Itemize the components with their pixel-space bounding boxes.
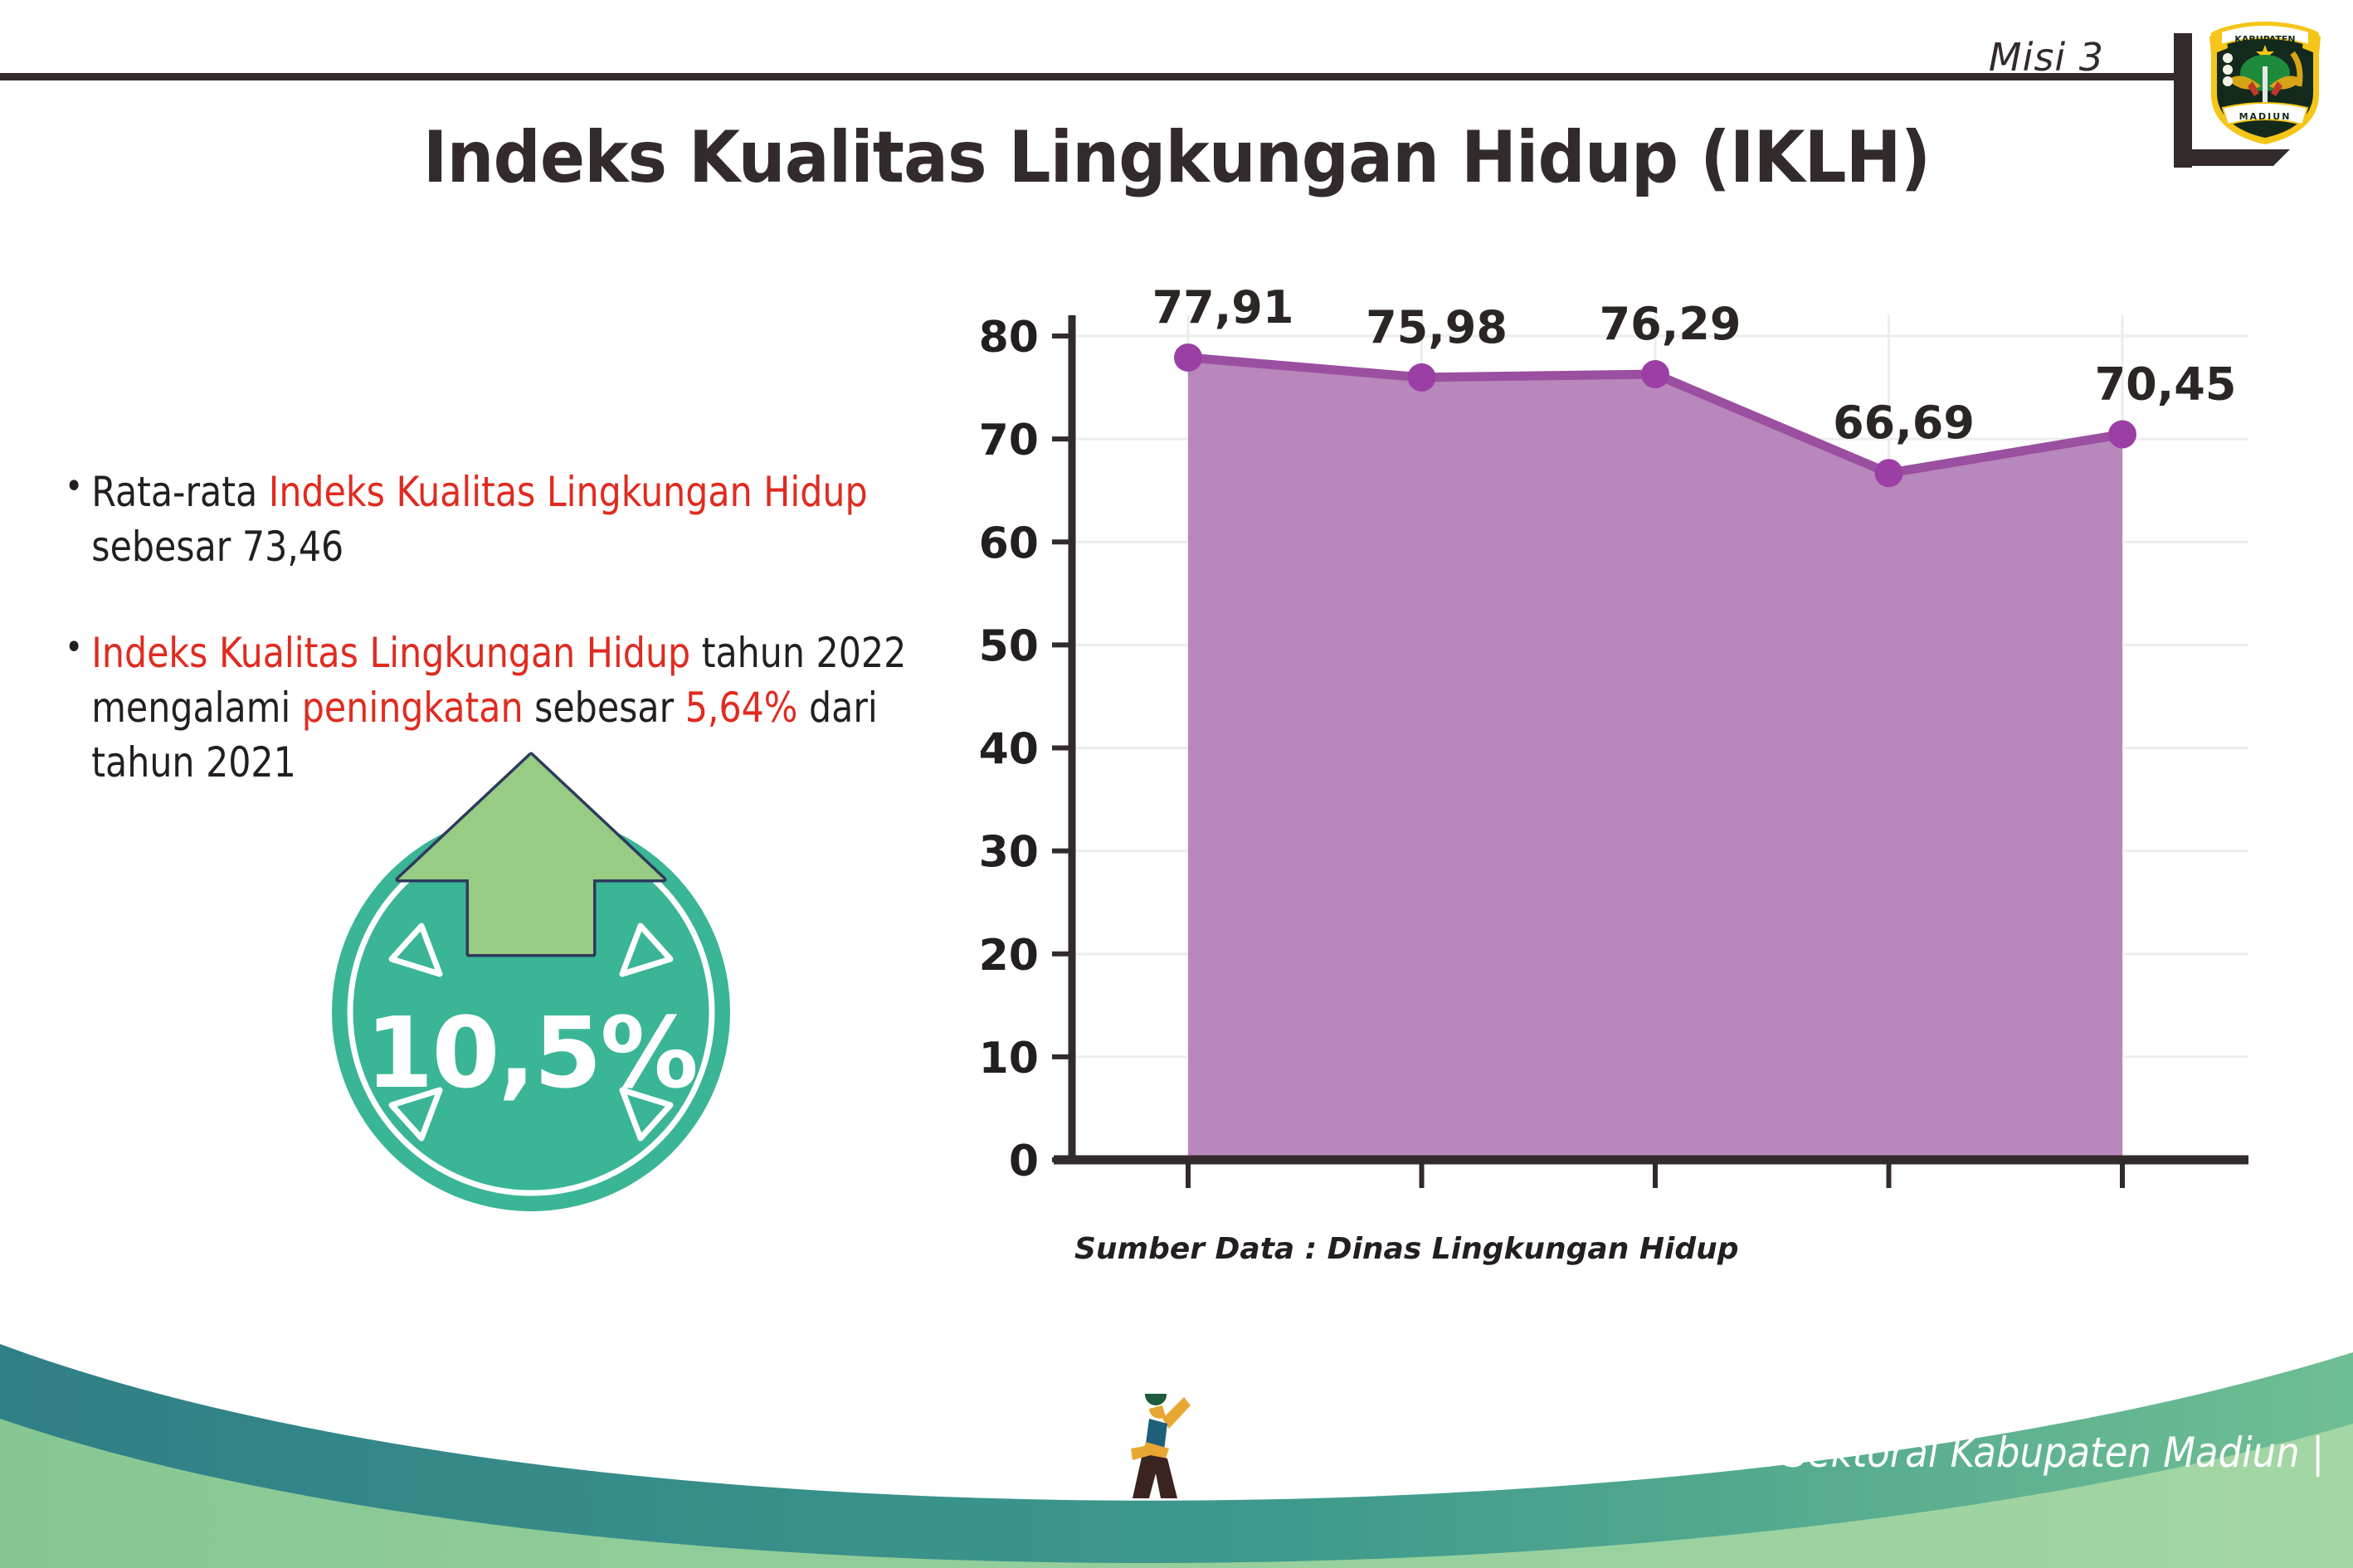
iklh-area-chart: 01020304050607080 20182019202020212022 7… xyxy=(954,282,2282,1211)
badge-graphic xyxy=(315,747,747,1211)
crest-top-text: KABUPATEN xyxy=(2234,34,2295,45)
x-tick-label: 2018 xyxy=(1119,1205,1258,1211)
y-tick-label: 50 xyxy=(979,621,1039,671)
y-tick-label: 10 xyxy=(979,1034,1039,1083)
bullet-seg-highlight: Indeks Kualitas Lingkungan Hidup xyxy=(269,468,868,516)
page-title: Indeks Kualitas Lingkungan Hidup (IKLH) xyxy=(82,116,2270,199)
chart-y-tick-labels: 01020304050607080 xyxy=(979,313,1039,1186)
data-point-marker xyxy=(1875,459,1903,487)
x-tick-label: 2020 xyxy=(1586,1205,1725,1211)
x-tick-label: 2022 xyxy=(2053,1205,2192,1211)
bullet-seg: Rata-rata xyxy=(91,468,268,516)
header-rule xyxy=(0,73,2190,80)
data-label: 66,69 xyxy=(1833,397,1975,449)
y-tick-label: 60 xyxy=(979,519,1039,568)
bullet-seg-highlight: peningkatan xyxy=(302,684,524,732)
data-point-marker xyxy=(1408,363,1436,392)
statistics-mascot-icon xyxy=(1124,1394,1211,1506)
data-point-marker xyxy=(1174,343,1202,372)
y-tick-label: 0 xyxy=(1009,1137,1039,1186)
data-label: 76,29 xyxy=(1600,298,1742,350)
bullet-seg: sebesar xyxy=(524,684,685,732)
data-label: 77,91 xyxy=(1152,282,1294,334)
bullet-seg-highlight: Indeks Kualitas Lingkungan Hidup xyxy=(91,629,690,677)
bullet-seg-highlight: 5,64% xyxy=(685,684,798,732)
chart-source-note: Sumber Data : Dinas Lingkungan Hidup xyxy=(1074,1232,1739,1266)
badge-value: 10,5% xyxy=(315,996,747,1110)
chart-area-fill xyxy=(1188,358,2122,1160)
y-tick-label: 80 xyxy=(979,313,1039,363)
list-item: Rata-rata Indeks Kualitas Lingkungan Hid… xyxy=(65,465,916,574)
x-tick-label: 2019 xyxy=(1352,1205,1491,1211)
x-tick-label: 2021 xyxy=(1820,1205,1958,1211)
data-label: 70,45 xyxy=(2095,358,2237,411)
increase-badge: 10,5% xyxy=(315,747,747,1211)
y-tick-label: 30 xyxy=(979,828,1039,878)
chart-svg: 01020304050607080 20182019202020212022 7… xyxy=(954,282,2282,1211)
y-tick-label: 70 xyxy=(979,416,1039,465)
bullet-seg: sebesar 73,46 xyxy=(91,523,343,571)
data-point-marker xyxy=(1641,360,1669,388)
y-tick-label: 40 xyxy=(979,725,1039,775)
data-point-marker xyxy=(2108,421,2136,449)
chart-x-tick-labels: 20182019202020212022 xyxy=(1119,1205,2192,1211)
y-tick-label: 20 xyxy=(979,931,1039,981)
footer-caption: Media Infografis Data Statistik Sektoral… xyxy=(1207,1429,2324,1477)
data-label: 75,98 xyxy=(1366,301,1508,353)
mission-label: Misi 3 xyxy=(1989,35,2104,80)
